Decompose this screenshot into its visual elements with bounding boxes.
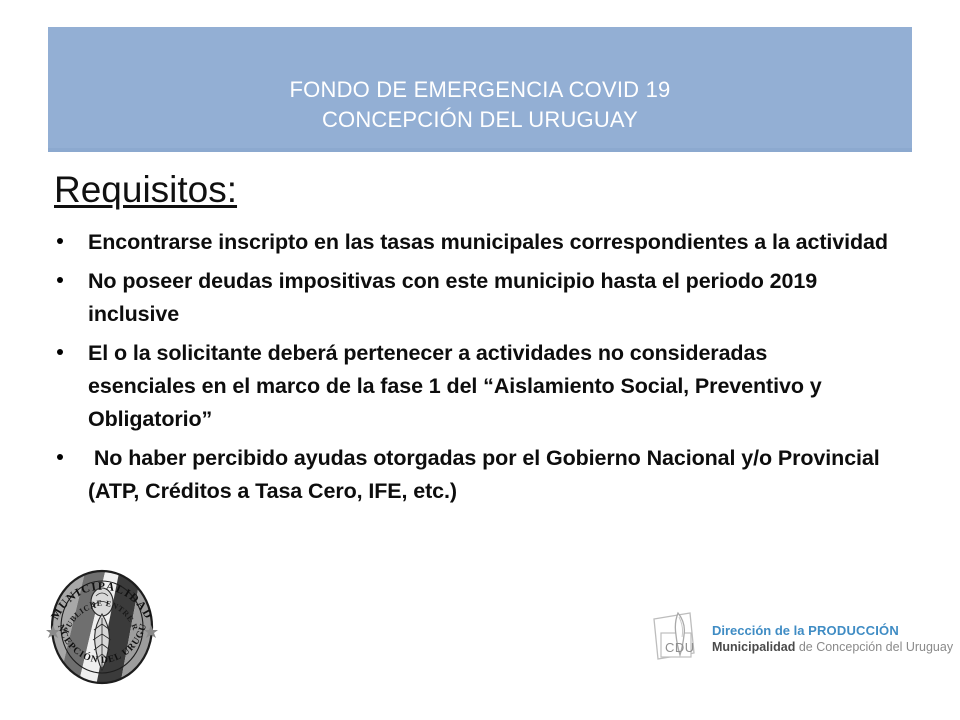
list-item: El o la solicitante deberá pertenecer a … xyxy=(52,337,892,436)
production-logo-line-1-strong: PRODUCCIÓN xyxy=(808,623,899,638)
production-logo-text: Dirección de la PRODUCCIÓN Municipalidad… xyxy=(712,620,953,655)
bullet-dot-icon xyxy=(52,226,88,259)
list-item: No poseer deudas impositivas con este mu… xyxy=(52,265,892,331)
bullet-dot-icon xyxy=(52,442,88,475)
list-item-label: No haber percibido ayudas otorgadas por … xyxy=(88,442,892,508)
production-logo-line-2: Municipalidad de Concepción del Uruguay xyxy=(712,639,953,655)
list-item-label: El o la solicitante deberá pertenecer a … xyxy=(88,337,878,436)
requirements-list: Encontrarse inscripto en las tasas munic… xyxy=(52,226,892,514)
production-logo-line-1: Dirección de la PRODUCCIÓN xyxy=(712,622,953,639)
banner-bottom-accent xyxy=(48,148,912,152)
slide-canvas: FONDO DE EMERGENCIA COVID 19 CONCEPCIÓN … xyxy=(0,0,960,720)
title-banner: FONDO DE EMERGENCIA COVID 19 CONCEPCIÓN … xyxy=(48,27,912,152)
list-item-label: Encontrarse inscripto en las tasas munic… xyxy=(88,226,892,259)
banner-title-line-1: FONDO DE EMERGENCIA COVID 19 xyxy=(290,75,671,105)
cdu-mark-label: CDU xyxy=(665,640,695,655)
list-item: No haber percibido ayudas otorgadas por … xyxy=(52,442,892,508)
page-title: Requisitos: xyxy=(54,168,237,212)
list-item: Encontrarse inscripto en las tasas munic… xyxy=(52,226,892,259)
list-item-label: No poseer deudas impositivas con este mu… xyxy=(88,265,892,331)
production-logo-line-2-rest: de Concepción del Uruguay xyxy=(795,640,953,654)
production-logo: CDU Dirección de la PRODUCCIÓN Municipal… xyxy=(648,607,912,667)
banner-title-line-2: CONCEPCIÓN DEL URUGUAY xyxy=(322,105,638,135)
municipal-seal-icon: MUNICIPALIDAD CONCEPCIÓN DEL URUGUAY REP… xyxy=(38,568,166,686)
bullet-dot-icon xyxy=(52,337,88,370)
bullet-dot-icon xyxy=(52,265,88,298)
cdu-quill-icon: CDU xyxy=(648,609,704,665)
production-logo-line-1-prefix: Dirección de la xyxy=(712,623,808,638)
production-logo-line-2-strong: Municipalidad xyxy=(712,640,795,654)
